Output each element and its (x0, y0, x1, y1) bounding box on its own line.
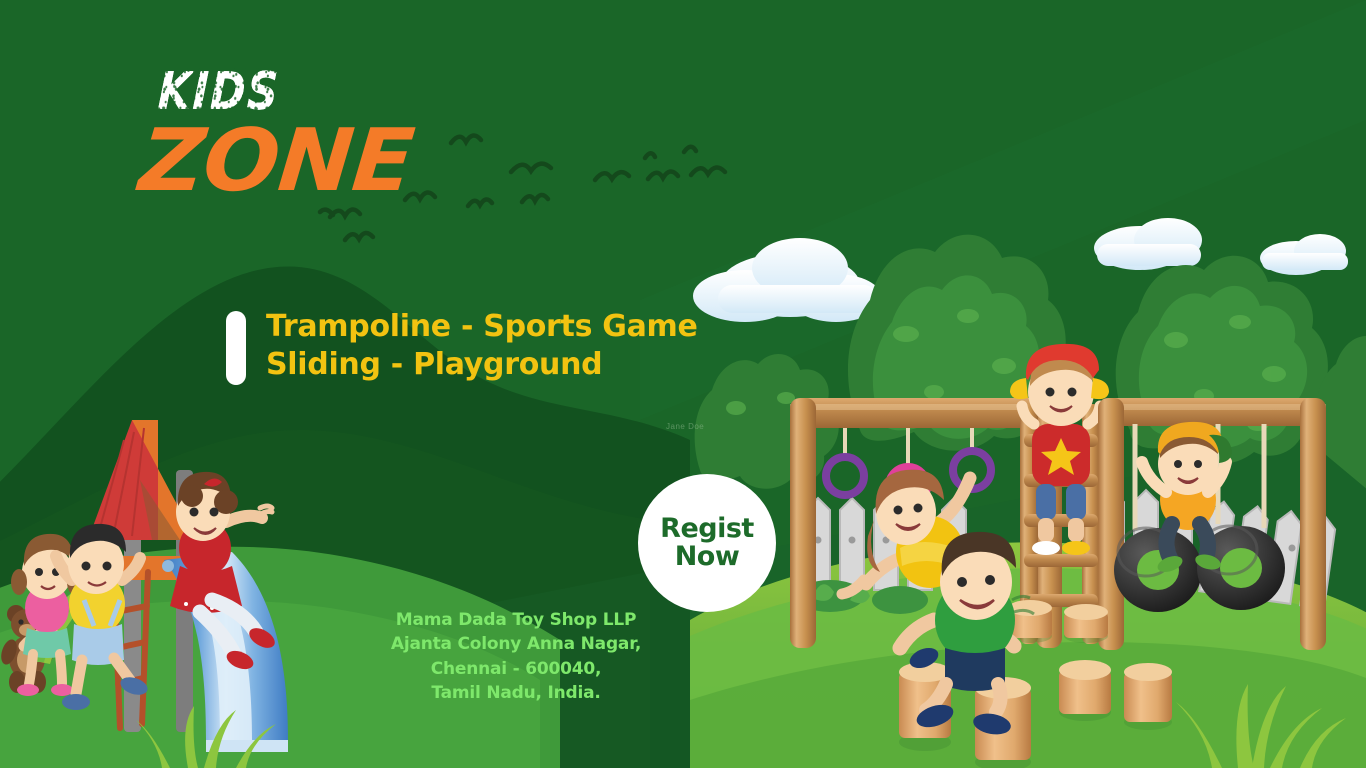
address-line-1: Mama Dada Toy Shop LLP (366, 608, 666, 632)
address-line-3: Chennai - 600040, (366, 657, 666, 681)
regist-now-button[interactable]: Regist Now (638, 474, 776, 612)
log-stump (1059, 660, 1111, 721)
log-stump (1124, 663, 1172, 730)
headline-accent-bar (226, 311, 246, 385)
watermark-text: Jane Doe (666, 422, 704, 431)
regist-label-line-1: Regist (660, 515, 754, 543)
logo-zone-text: ZONE (136, 118, 417, 204)
kids-zone-banner: KIDS ZONE Trampoline - Sports Game Slidi… (0, 0, 1366, 768)
log-stump (1064, 604, 1108, 643)
headline-lines: Trampoline - Sports Game Sliding - Playg… (266, 308, 698, 385)
logo: KIDS ZONE (140, 66, 440, 236)
headline-line-1: Trampoline - Sports Game (266, 308, 698, 346)
address-block: Mama Dada Toy Shop LLP Ajanta Colony Ann… (366, 608, 666, 705)
address-line-2: Ajanta Colony Anna Nagar, (366, 632, 666, 656)
headline-line-2: Sliding - Playground (266, 346, 698, 384)
headline-block: Trampoline - Sports Game Sliding - Playg… (226, 308, 698, 385)
regist-label-line-2: Now (675, 543, 740, 571)
address-line-4: Tamil Nadu, India. (366, 681, 666, 705)
